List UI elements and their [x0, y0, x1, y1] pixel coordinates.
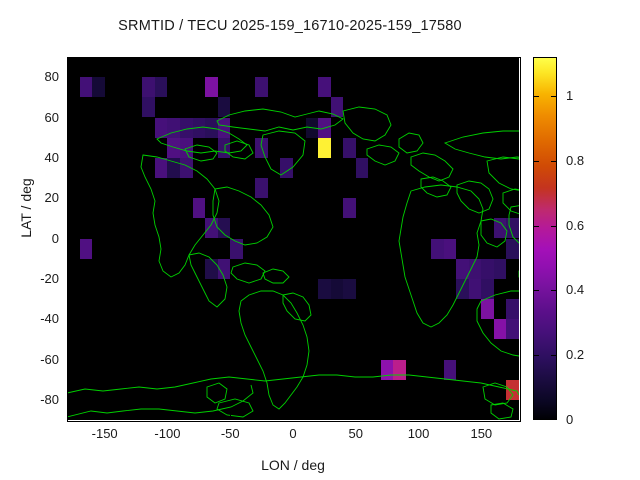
colorbar-tick-label: 0 — [566, 412, 573, 427]
x-tick-label: -150 — [75, 426, 135, 441]
x-tick-mark — [105, 415, 106, 420]
y-tick-label: -40 — [19, 311, 59, 326]
x-tick-mark — [230, 415, 231, 420]
y-tick-mark — [67, 158, 72, 159]
y-tick-mark — [67, 239, 72, 240]
colorbar-tick-mark — [551, 290, 556, 291]
x-tick-mark — [356, 415, 357, 420]
y-tick-mark — [67, 198, 72, 199]
x-tick-mark — [481, 415, 482, 420]
x-tick-label: 100 — [389, 426, 449, 441]
x-tick-label: 0 — [263, 426, 323, 441]
chart-root: SRMTID / TECU 2025-159_16710-2025-159_17… — [0, 0, 640, 480]
colorbar-tick-label: 0.6 — [566, 218, 584, 233]
y-axis-label: LAT / deg — [18, 138, 34, 278]
colorbar-tick-mark — [534, 161, 539, 162]
colorbar-tick-label: 1 — [566, 88, 573, 103]
y-tick-label: -80 — [19, 392, 59, 407]
colorbar-tick-mark — [534, 226, 539, 227]
x-tick-label: 150 — [451, 426, 511, 441]
colorbar-tick-mark — [551, 161, 556, 162]
x-tick-mark — [419, 415, 420, 420]
map-heatmap-panel[interactable] — [67, 57, 519, 420]
y-tick-label: 80 — [19, 69, 59, 84]
y-tick-mark — [67, 360, 72, 361]
colorbar-tick-label: 0.4 — [566, 282, 584, 297]
x-axis-label: LON / deg — [67, 457, 519, 473]
coastline-overlay — [67, 57, 519, 420]
colorbar-tick-label: 0.2 — [566, 347, 584, 362]
y-tick-mark — [67, 400, 72, 401]
x-tick-label: -50 — [200, 426, 260, 441]
colorbar-tick-label: 0.8 — [566, 153, 584, 168]
colorbar[interactable] — [533, 57, 557, 420]
x-tick-mark — [167, 415, 168, 420]
colorbar-gradient — [534, 58, 556, 419]
y-tick-mark — [67, 319, 72, 320]
x-tick-label: -100 — [137, 426, 197, 441]
y-tick-mark — [67, 279, 72, 280]
x-tick-label: 50 — [326, 426, 386, 441]
colorbar-tick-mark — [551, 96, 556, 97]
x-tick-mark — [293, 415, 294, 420]
y-tick-mark — [67, 118, 72, 119]
y-tick-mark — [67, 77, 72, 78]
colorbar-tick-mark — [551, 226, 556, 227]
colorbar-tick-mark — [534, 290, 539, 291]
colorbar-tick-mark — [534, 96, 539, 97]
y-tick-label: 60 — [19, 110, 59, 125]
page-title: SRMTID / TECU 2025-159_16710-2025-159_17… — [0, 18, 580, 34]
colorbar-tick-mark — [534, 355, 539, 356]
y-tick-label: -60 — [19, 352, 59, 367]
colorbar-tick-mark — [551, 355, 556, 356]
